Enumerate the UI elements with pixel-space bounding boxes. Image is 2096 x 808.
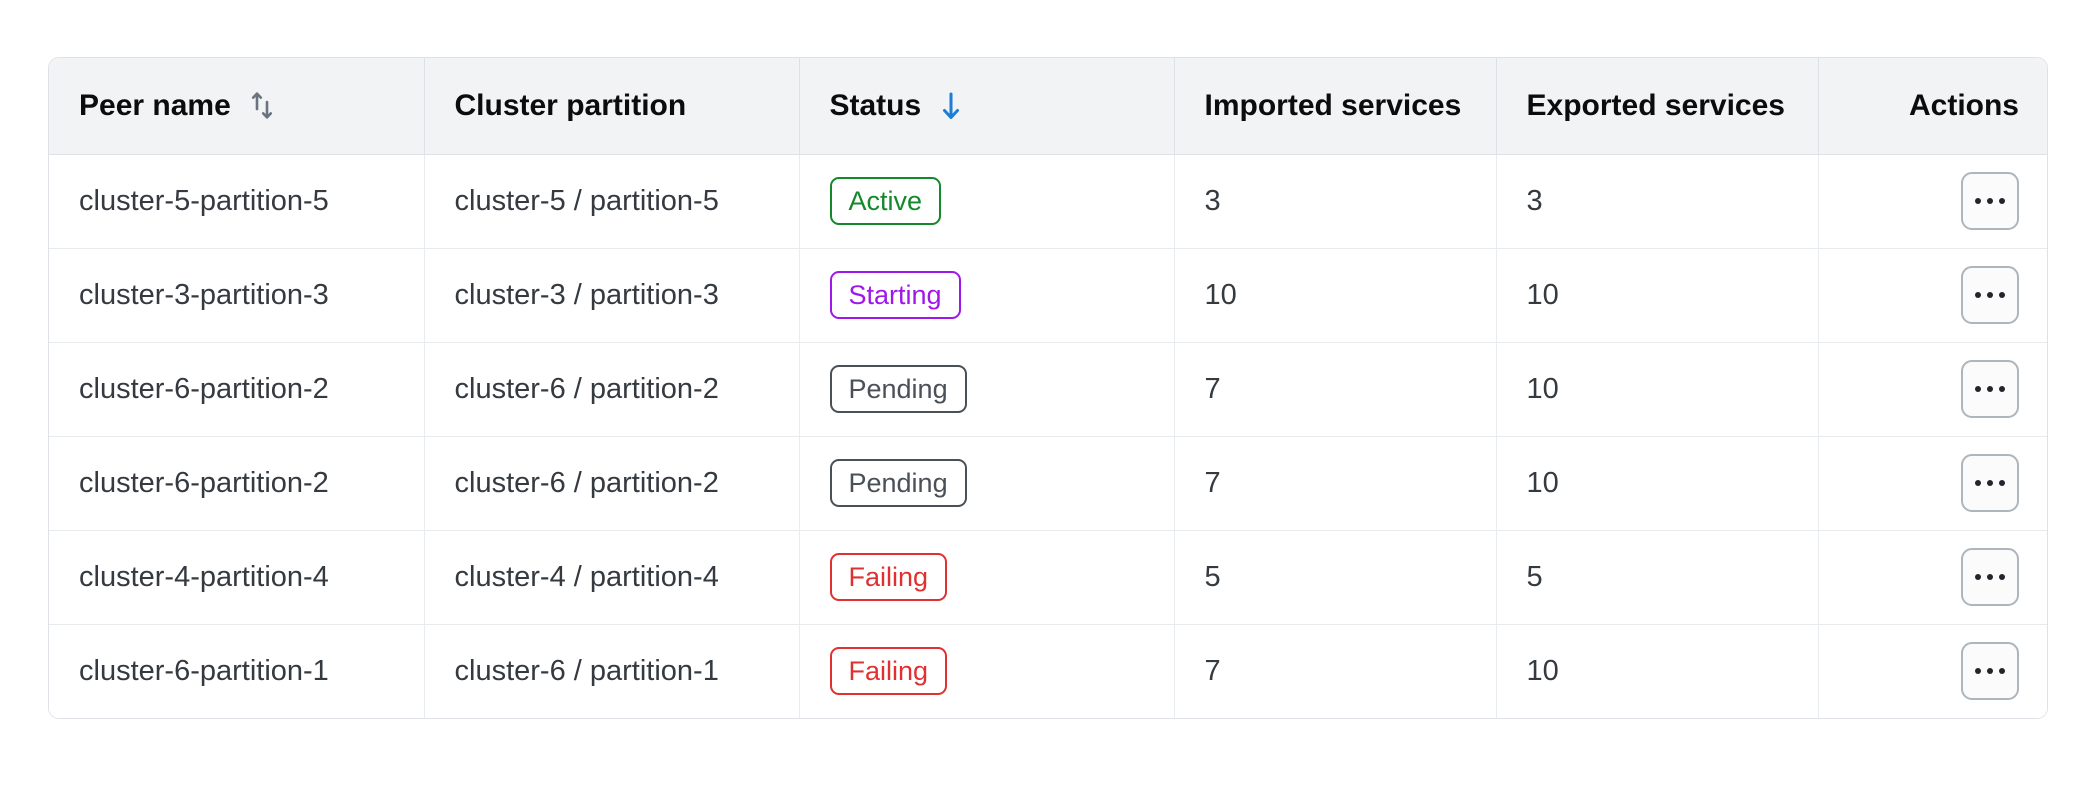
cell-peer-name: cluster-5-partition-5: [49, 154, 424, 248]
table-body: cluster-5-partition-5cluster-5 / partiti…: [49, 154, 2048, 718]
cell-actions: [1818, 530, 2048, 624]
ellipsis-icon: [1975, 292, 2005, 298]
column-header-label: Status: [830, 89, 922, 123]
sort-both-icon[interactable]: [247, 89, 277, 123]
column-header-label: Cluster partition: [455, 89, 687, 123]
row-actions-menu-button[interactable]: [1961, 548, 2019, 606]
cell-exported-services: 10: [1496, 342, 1818, 436]
cell-peer-name: cluster-6-partition-1: [49, 624, 424, 718]
row-actions-menu-button[interactable]: [1961, 172, 2019, 230]
status-badge: Failing: [830, 553, 948, 601]
peers-table: Peer name: [49, 58, 2048, 718]
row-actions-menu-button[interactable]: [1961, 454, 2019, 512]
row-actions-menu-button[interactable]: [1961, 266, 2019, 324]
table-row[interactable]: cluster-6-partition-2cluster-6 / partiti…: [49, 342, 2048, 436]
ellipsis-icon: [1975, 198, 2005, 204]
column-header-exported-services[interactable]: Exported services: [1496, 58, 1818, 154]
cell-imported-services: 7: [1174, 342, 1496, 436]
cell-actions: [1818, 154, 2048, 248]
cell-exported-services: 3: [1496, 154, 1818, 248]
cell-peer-name: cluster-6-partition-2: [49, 342, 424, 436]
peers-table-page: Peer name: [0, 0, 2096, 808]
cell-status: Pending: [799, 342, 1174, 436]
row-actions-menu-button[interactable]: [1961, 360, 2019, 418]
status-badge: Pending: [830, 365, 967, 413]
column-header-imported-services[interactable]: Imported services: [1174, 58, 1496, 154]
ellipsis-icon: [1975, 668, 2005, 674]
peers-table-container: Peer name: [48, 57, 2048, 719]
cell-cluster-partition: cluster-4 / partition-4: [424, 530, 799, 624]
cell-cluster-partition: cluster-5 / partition-5: [424, 154, 799, 248]
sort-down-icon[interactable]: [937, 90, 965, 122]
table-row[interactable]: cluster-5-partition-5cluster-5 / partiti…: [49, 154, 2048, 248]
cell-exported-services: 10: [1496, 624, 1818, 718]
table-row[interactable]: cluster-4-partition-4cluster-4 / partiti…: [49, 530, 2048, 624]
cell-status: Failing: [799, 624, 1174, 718]
table-row[interactable]: cluster-6-partition-2cluster-6 / partiti…: [49, 436, 2048, 530]
cell-cluster-partition: cluster-6 / partition-2: [424, 342, 799, 436]
cell-actions: [1818, 436, 2048, 530]
cell-status: Pending: [799, 436, 1174, 530]
table-row[interactable]: cluster-6-partition-1cluster-6 / partiti…: [49, 624, 2048, 718]
cell-status: Failing: [799, 530, 1174, 624]
status-badge: Failing: [830, 647, 948, 695]
cell-cluster-partition: cluster-3 / partition-3: [424, 248, 799, 342]
cell-imported-services: 10: [1174, 248, 1496, 342]
cell-imported-services: 7: [1174, 624, 1496, 718]
column-header-label: Imported services: [1205, 89, 1462, 123]
cell-peer-name: cluster-6-partition-2: [49, 436, 424, 530]
status-badge: Pending: [830, 459, 967, 507]
cell-actions: [1818, 248, 2048, 342]
column-header-actions: Actions: [1818, 58, 2048, 154]
status-badge: Starting: [830, 271, 961, 319]
cell-exported-services: 10: [1496, 248, 1818, 342]
cell-exported-services: 5: [1496, 530, 1818, 624]
ellipsis-icon: [1975, 574, 2005, 580]
column-header-peer-name[interactable]: Peer name: [49, 58, 424, 154]
column-header-label: Exported services: [1527, 89, 1785, 123]
table-row[interactable]: cluster-3-partition-3cluster-3 / partiti…: [49, 248, 2048, 342]
cell-imported-services: 3: [1174, 154, 1496, 248]
cell-cluster-partition: cluster-6 / partition-2: [424, 436, 799, 530]
cell-cluster-partition: cluster-6 / partition-1: [424, 624, 799, 718]
column-header-label: Peer name: [79, 89, 231, 123]
table-header: Peer name: [49, 58, 2048, 154]
cell-peer-name: cluster-3-partition-3: [49, 248, 424, 342]
cell-imported-services: 5: [1174, 530, 1496, 624]
status-badge: Active: [830, 177, 942, 225]
cell-imported-services: 7: [1174, 436, 1496, 530]
cell-exported-services: 10: [1496, 436, 1818, 530]
cell-status: Active: [799, 154, 1174, 248]
cell-actions: [1818, 342, 2048, 436]
cell-status: Starting: [799, 248, 1174, 342]
row-actions-menu-button[interactable]: [1961, 642, 2019, 700]
column-header-label: Actions: [1909, 89, 2019, 123]
ellipsis-icon: [1975, 386, 2005, 392]
cell-peer-name: cluster-4-partition-4: [49, 530, 424, 624]
cell-actions: [1818, 624, 2048, 718]
column-header-cluster-partition[interactable]: Cluster partition: [424, 58, 799, 154]
table-header-row: Peer name: [49, 58, 2048, 154]
column-header-status[interactable]: Status: [799, 58, 1174, 154]
ellipsis-icon: [1975, 480, 2005, 486]
